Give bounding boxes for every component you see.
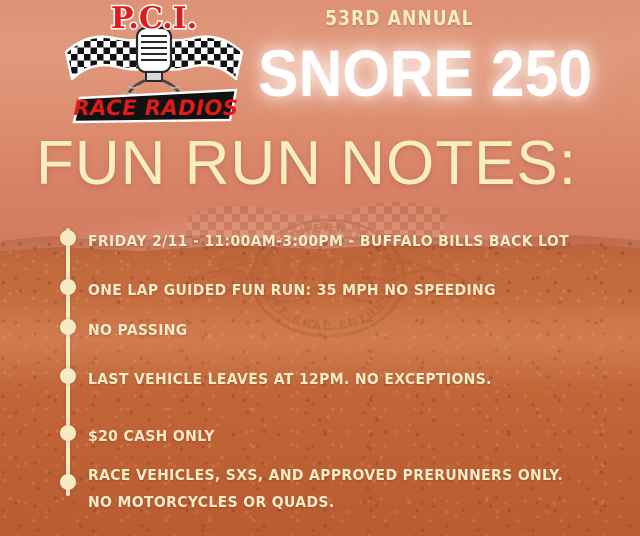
svg-text:P.C.I.: P.C.I. (111, 2, 197, 36)
timeline-rail (66, 228, 70, 496)
timeline-dot-1 (60, 230, 76, 246)
race-radios-wordmark: RACE RADIOS (74, 90, 239, 122)
eyebrow-text: 53RD ANNUAL (325, 6, 474, 30)
timeline-dot-5 (60, 425, 76, 441)
note-item: FRIDAY 2/11 - 11:00AM-3:00PM - BUFFALO B… (88, 231, 569, 253)
note-item: $20 CASH ONLY (88, 426, 215, 448)
note-item: NO PASSING (88, 320, 188, 342)
note-item: ONE LAP GUIDED FUN RUN: 35 MPH NO SPEEDI… (88, 280, 496, 302)
note-item: LAST VEHICLE LEAVES AT 12PM. NO EXCEPTIO… (88, 369, 492, 391)
poster-canvas: SOUTHERN NEVADA OFF-ROAD ENTHUSIASTS SNO… (0, 0, 640, 536)
timeline-dot-6 (60, 474, 76, 490)
timeline-dot-2 (60, 279, 76, 295)
pci-race-radios-logo: P.C.I. RACE RADIOS (58, 2, 250, 124)
note-item: NO MOTORCYCLES OR QUADS. (88, 492, 335, 514)
event-title: SNORE 250 (258, 40, 592, 106)
timeline-dot-4 (60, 368, 76, 384)
timeline-dot-3 (60, 319, 76, 335)
note-item: RACE VEHICLES, SXS, AND APPROVED PRERUNN… (88, 465, 563, 487)
svg-text:RACE RADIOS: RACE RADIOS (74, 96, 239, 120)
page-title: FUN RUN NOTES: (36, 133, 577, 195)
